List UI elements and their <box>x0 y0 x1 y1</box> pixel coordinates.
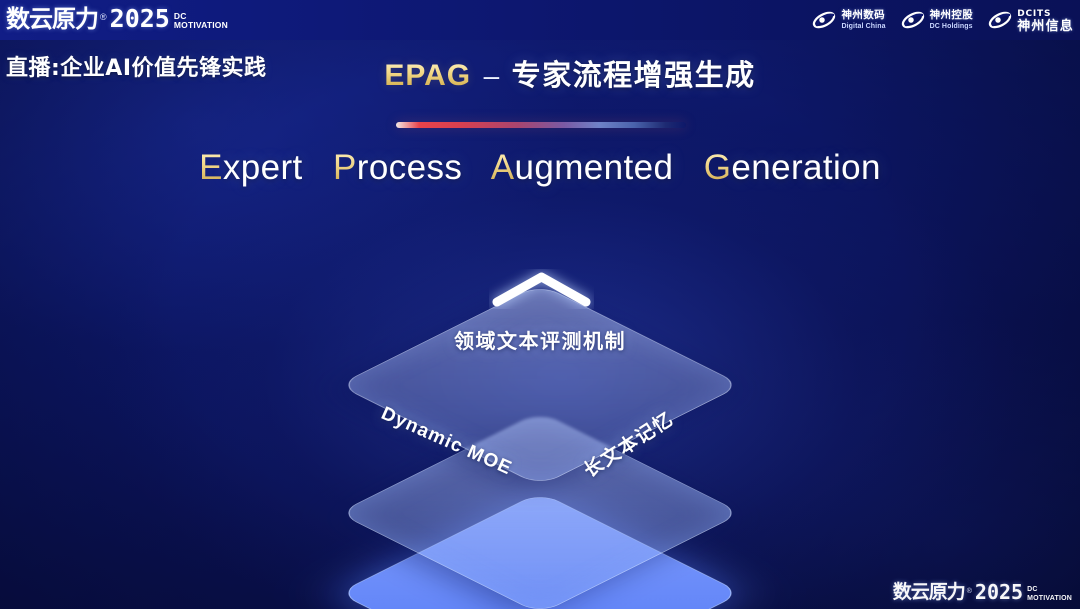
layered-architecture-diagram: 领域文本评测机制 Dynamic MOE 长文本记忆 三类语义建模模块 <box>290 222 790 582</box>
subtitle-word-augmented: Augmented <box>491 148 674 187</box>
partner-label: DCITS 神州信息 <box>1017 8 1074 32</box>
partner-name-en: Digital China <box>841 23 885 30</box>
partner-logo-dc-holdings: 神州控股 DC Holdings <box>900 8 974 32</box>
swirl-logo-icon <box>900 8 926 32</box>
brand-subtitle: DC MOTIVATION <box>174 12 228 30</box>
footer-brand-subtitle: DC MOTIVATION <box>1027 585 1072 603</box>
footer-brand-logo: 数云原力 ® 2025 DC MOTIVATION <box>893 579 1072 605</box>
subtitle-cap-p: P <box>333 148 357 187</box>
footer-brand-year: 2025 <box>975 579 1023 605</box>
subtitle-space-2 <box>472 148 482 187</box>
subtitle-rest-process: rocess <box>357 148 463 187</box>
slide-canvas: 数云原力 ® 2025 DC MOTIVATION 直播:企业AI价值先锋实践 … <box>0 0 1080 609</box>
partner-label: 神州数码 Digital China <box>841 10 885 30</box>
subtitle-space-1 <box>313 148 323 187</box>
title-acronym: EPAG <box>384 59 471 92</box>
brand-sub-line2: MOTIVATION <box>174 21 228 30</box>
brand-registered-mark: ® <box>100 10 107 24</box>
subtitle-word-generation: Generation <box>704 148 881 187</box>
subtitle-cap-e: E <box>199 148 223 187</box>
partner-label: 神州控股 DC Holdings <box>930 10 974 30</box>
subtitle-word-process: Process <box>333 148 462 187</box>
subtitle-cap-g: G <box>704 148 732 187</box>
subtitle-cap-a: A <box>491 148 515 187</box>
subtitle-rest-generation: eneration <box>731 148 881 187</box>
subtitle-english: Expert Process Augmented Generation <box>0 148 1080 188</box>
subtitle-rest-expert: xpert <box>223 148 303 187</box>
live-broadcast-title: 直播:企业AI价值先锋实践 <box>6 50 267 82</box>
diagram-plate-top <box>338 284 742 486</box>
title-chinese: 专家流程增强生成 <box>512 58 756 92</box>
partner-name-en: DC Holdings <box>930 23 974 30</box>
swirl-logo-icon <box>987 8 1013 32</box>
diagram-layer-top <box>290 222 790 512</box>
title-separator: – <box>484 60 500 91</box>
footer-registered-mark: ® <box>967 585 972 599</box>
partner-name-cn: 神州控股 <box>930 10 974 21</box>
brand-logo: 数云原力 ® 2025 DC MOTIVATION <box>6 4 228 32</box>
partner-logo-digital-china: 神州数码 Digital China <box>811 8 885 32</box>
partner-name-cn: 神州信息 <box>1017 19 1074 32</box>
accent-gradient-bar <box>396 122 686 128</box>
footer-sub-line1: DC <box>1027 585 1072 594</box>
subtitle-space-3 <box>683 148 693 187</box>
swirl-logo-icon <box>811 8 837 32</box>
footer-sub-line2: MOTIVATION <box>1027 594 1072 603</box>
subtitle-rest-augmented: ugmented <box>514 148 673 187</box>
footer-brand-name-cn: 数云原力 <box>893 579 965 605</box>
partner-logo-dcits: DCITS 神州信息 <box>987 8 1074 32</box>
subtitle-word-expert: Expert <box>199 148 303 187</box>
brand-year: 2025 <box>110 6 170 32</box>
brand-name-cn: 数云原力 <box>6 6 98 32</box>
partner-name-cn: 神州数码 <box>841 10 885 21</box>
partner-logo-group: 神州数码 Digital China 神州控股 DC Holdings <box>811 3 1074 37</box>
